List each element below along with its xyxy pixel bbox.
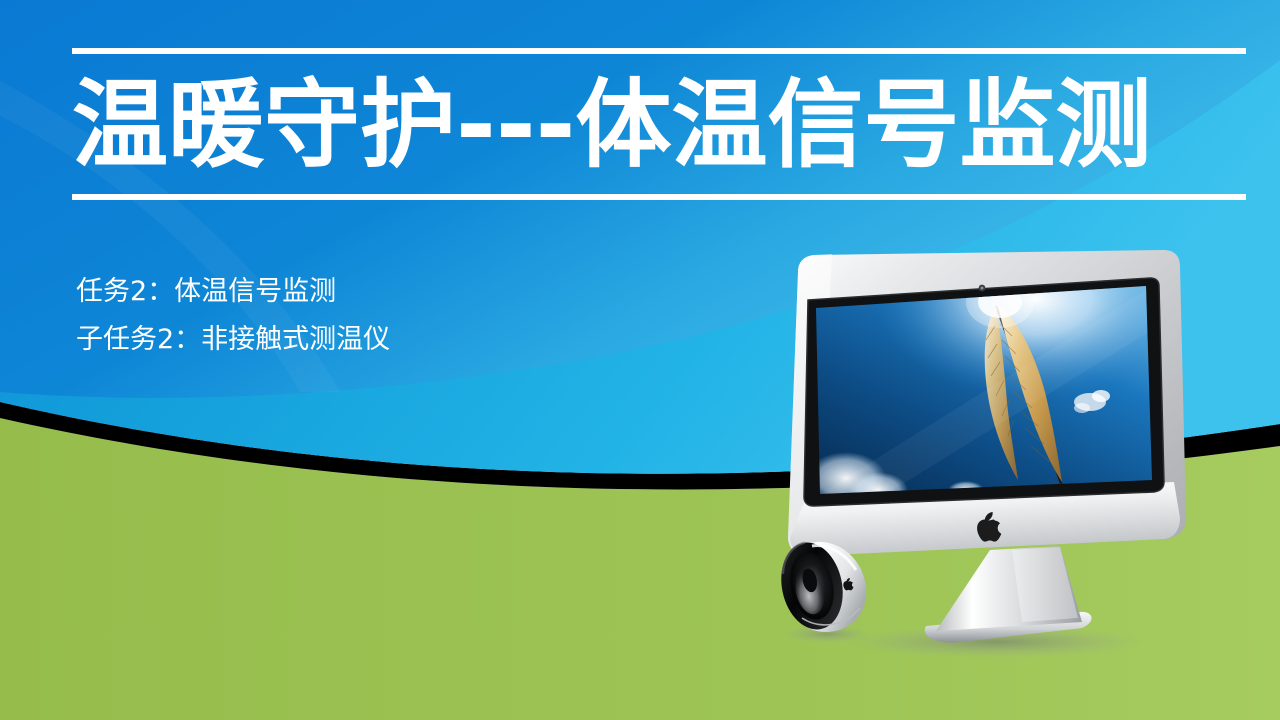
slide-canvas: 温暖守护---体温信号监测 任务2：体温信号监测 子任务2：非接触式测温仪 (0, 0, 1280, 720)
subtitle-subtask: 子任务2：非接触式测温仪 (76, 316, 390, 364)
apple-pro-speaker-illustration (772, 530, 882, 650)
title-rule-bottom (72, 194, 1246, 200)
subtitle-task: 任务2：体温信号监测 (76, 268, 390, 316)
page-title: 温暖守护---体温信号监测 (72, 60, 1246, 190)
title-rule-top (72, 48, 1246, 54)
feather-sky-wallpaper (800, 270, 1180, 510)
subtitle-block: 任务2：体温信号监测 子任务2：非接触式测温仪 (76, 268, 390, 364)
title-block: 温暖守护---体温信号监测 (72, 48, 1246, 200)
